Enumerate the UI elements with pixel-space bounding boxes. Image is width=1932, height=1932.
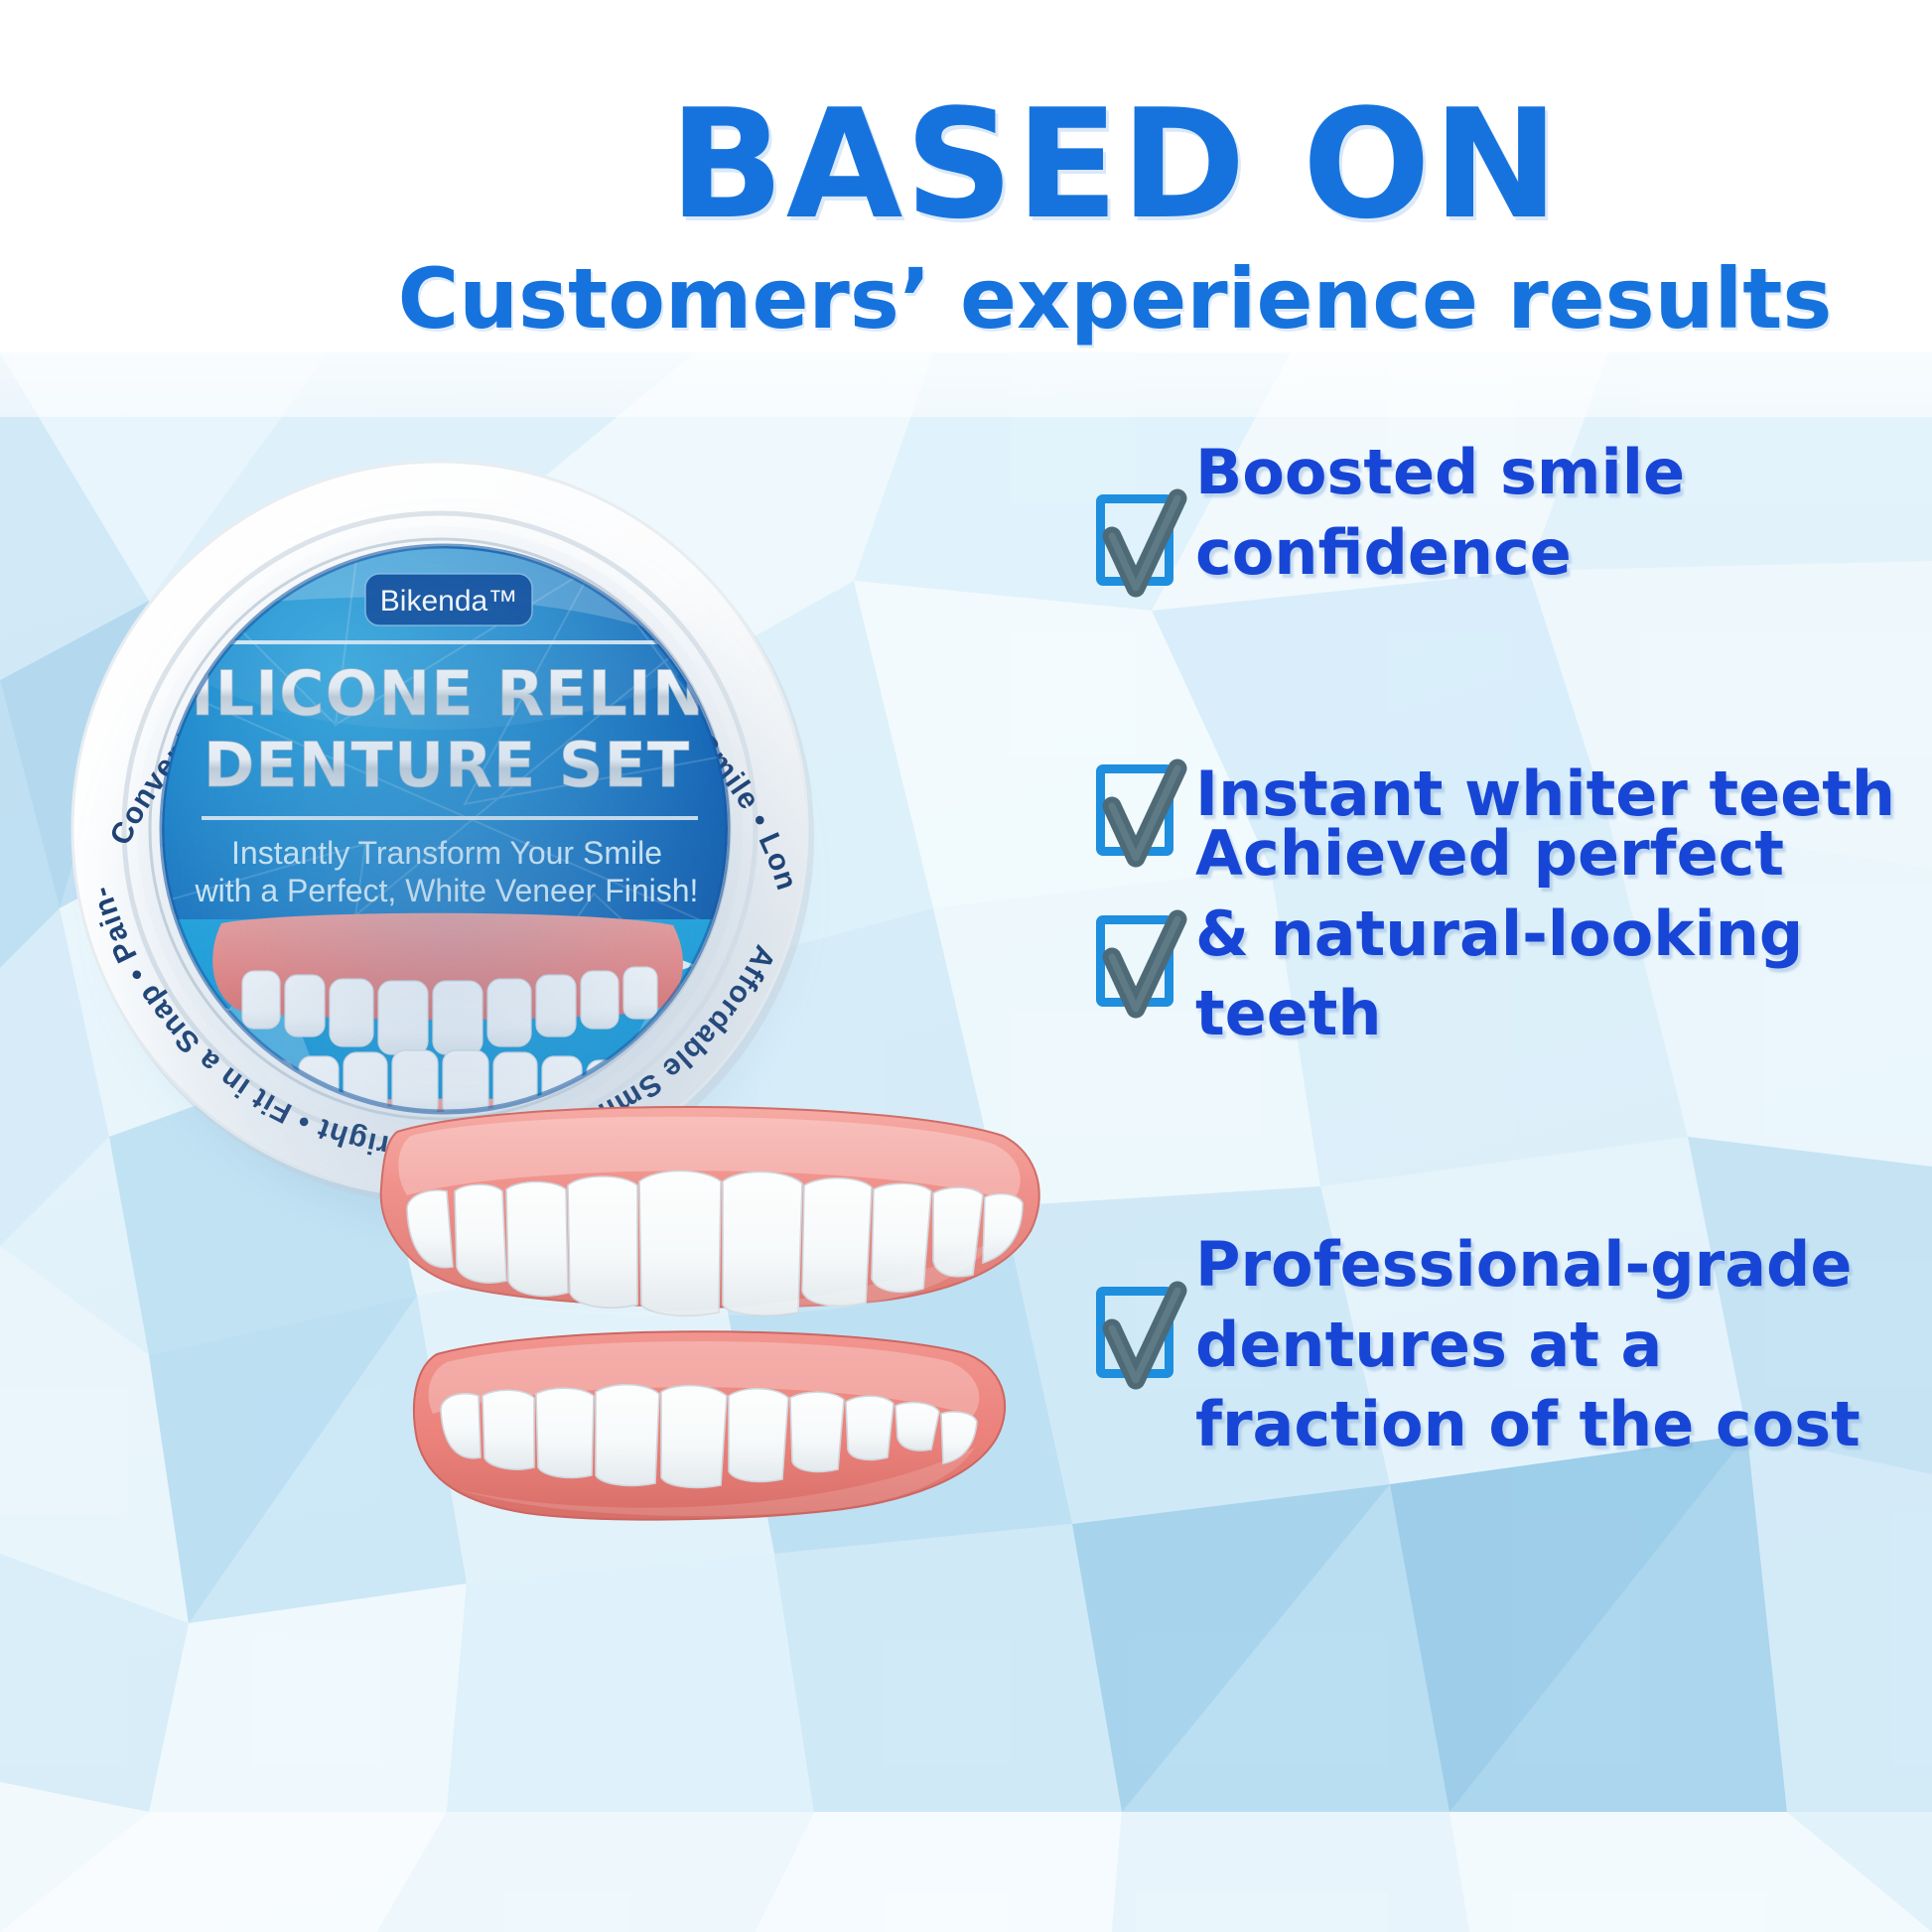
marketing-image-canvas: BASED ON Customers’ experience results (0, 0, 1932, 1932)
checklist-item-label: Achieved perfect & natural-looking teeth (1195, 814, 1803, 1054)
checklist-item-4[interactable]: Professional-grade dentures at a fractio… (1090, 1277, 1861, 1465)
checklist-item-label: Boosted smile confidence (1195, 433, 1685, 593)
checkbox-checked-icon[interactable] (1090, 484, 1185, 592)
checklist-item-label: Professional-grade dentures at a fractio… (1195, 1225, 1861, 1465)
upper-denture-veneer (381, 1107, 1039, 1316)
denture-veneers-image (367, 1092, 1062, 1569)
page-subtitle: Customers’ experience results (0, 255, 1932, 343)
checkbox-checked-icon[interactable] (1090, 905, 1185, 1013)
checkbox-checked-icon[interactable] (1090, 1277, 1185, 1384)
checkbox-checked-icon[interactable] (1090, 755, 1185, 862)
checklist-item-3[interactable]: Achieved perfect & natural-looking teeth (1090, 905, 1803, 1054)
checklist-item-1[interactable]: Boosted smile confidence (1090, 484, 1685, 593)
page-title: BASED ON (0, 87, 1932, 241)
lower-denture-veneer (414, 1331, 1005, 1519)
headline-block: BASED ON Customers’ experience results (0, 87, 1932, 343)
